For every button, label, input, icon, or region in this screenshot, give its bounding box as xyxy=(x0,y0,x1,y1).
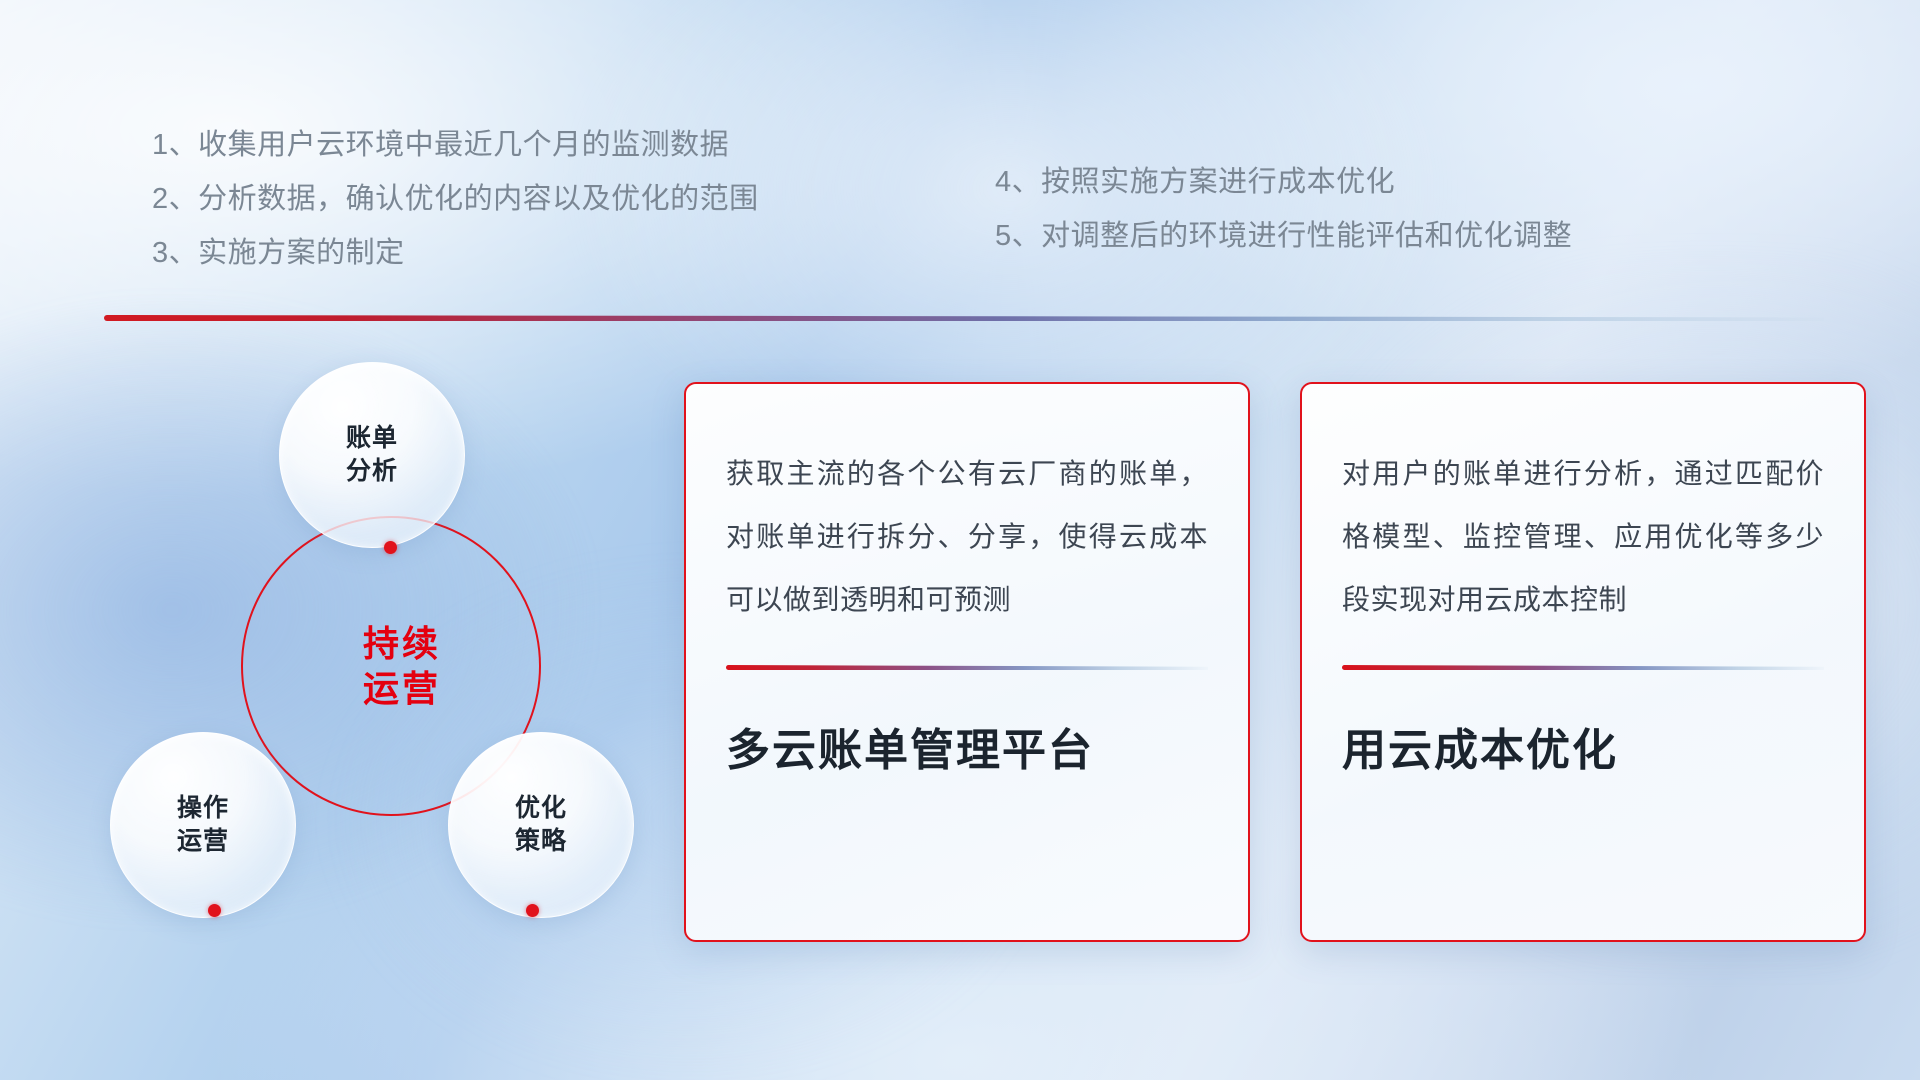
process-steps-right-column: 4、按照实施方案进行成本优化 5、对调整后的环境进行性能评估和优化调整 xyxy=(995,155,1785,263)
venn-node-dot-right xyxy=(526,904,539,917)
venn-center-label-line1: 持续 xyxy=(363,621,441,666)
venn-bubble-operations-line2: 运营 xyxy=(177,825,229,858)
process-step-3: 3、实施方案的制定 xyxy=(152,226,922,280)
venn-bubble-bill-analysis-line2: 分析 xyxy=(346,455,398,488)
process-step-4: 4、按照实施方案进行成本优化 xyxy=(995,155,1785,209)
slide-canvas: 1、收集用户云环境中最近几个月的监测数据 2、分析数据，确认优化的内容以及优化的… xyxy=(0,0,1920,1080)
card-1-title: 多云账单管理平台 xyxy=(726,722,1208,780)
venn-node-dot-top xyxy=(384,541,397,554)
venn-node-dot-left xyxy=(208,904,221,917)
card-2-title: 用云成本优化 xyxy=(1342,722,1824,780)
process-step-2: 2、分析数据，确认优化的内容以及优化的范围 xyxy=(152,172,922,226)
venn-bubble-operations-line1: 操作 xyxy=(177,792,229,825)
process-steps-left-column: 1、收集用户云环境中最近几个月的监测数据 2、分析数据，确认优化的内容以及优化的… xyxy=(152,118,922,280)
venn-center-label-line2: 运营 xyxy=(363,666,441,711)
venn-bubble-bill-analysis-line1: 账单 xyxy=(346,422,398,455)
card-2-body-text: 对用户的账单进行分析，通过匹配价格模型、监控管理、应用优化等多少段实现对用云成本… xyxy=(1342,442,1824,631)
card-cloud-cost-optimization[interactable]: 对用户的账单进行分析，通过匹配价格模型、监控管理、应用优化等多少段实现对用云成本… xyxy=(1300,382,1866,942)
venn-bubble-operations[interactable]: 操作 运营 xyxy=(110,732,296,918)
card-2-accent-rule xyxy=(1342,665,1824,670)
process-step-1: 1、收集用户云环境中最近几个月的监测数据 xyxy=(152,118,922,172)
venn-diagram: 持续 运营 账单 分析 操作 运营 优化 策略 xyxy=(96,352,656,952)
venn-bubble-optimization-strategy-line2: 策略 xyxy=(515,825,567,858)
card-1-body-text: 获取主流的各个公有云厂商的账单，对账单进行拆分、分享，使得云成本可以做到透明和可… xyxy=(726,442,1208,631)
venn-bubble-optimization-strategy-line1: 优化 xyxy=(515,792,567,825)
card-multicloud-billing-platform[interactable]: 获取主流的各个公有云厂商的账单，对账单进行拆分、分享，使得云成本可以做到透明和可… xyxy=(684,382,1250,942)
venn-bubble-bill-analysis[interactable]: 账单 分析 xyxy=(279,362,465,548)
card-1-accent-rule xyxy=(726,665,1208,670)
process-step-5: 5、对调整后的环境进行性能评估和优化调整 xyxy=(995,209,1785,263)
venn-bubble-optimization-strategy[interactable]: 优化 策略 xyxy=(448,732,634,918)
